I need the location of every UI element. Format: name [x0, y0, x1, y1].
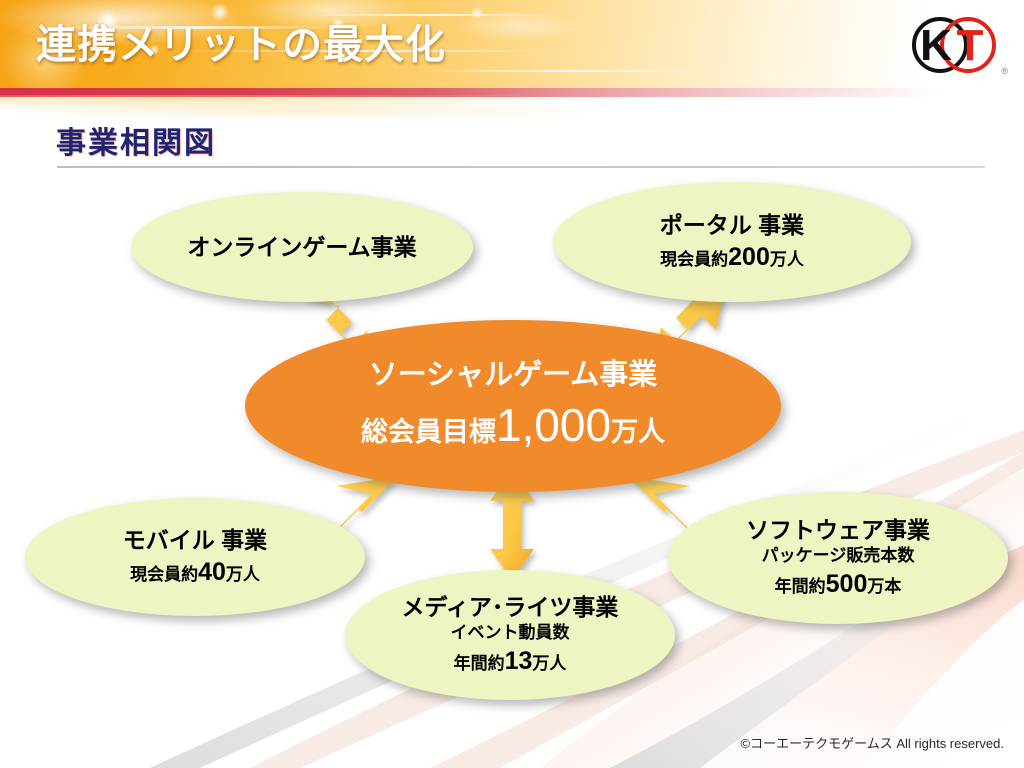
node-media-rights[interactable]: メディア･ライツ事業 イベント動員数 年間約13万人 — [345, 570, 675, 700]
node-metric-prefix: 年間約 — [454, 654, 505, 673]
node-metric-line1: パッケージ販売本数 — [762, 546, 915, 566]
slide-header: 連携メリットの最大化 — [0, 0, 1024, 92]
node-online-game[interactable]: オンラインゲーム事業 — [131, 192, 473, 302]
node-metric-prefix: 現会員約 — [660, 250, 728, 269]
node-metric-number: 40 — [198, 558, 226, 586]
kt-logo: K T — [906, 8, 1002, 82]
node-title: モバイル 事業 — [123, 527, 267, 553]
registered-trademark-icon: ® — [1001, 66, 1008, 76]
node-metric-prefix: イベント動員数 — [451, 623, 570, 642]
node-metric-suffix: 万人 — [226, 565, 260, 584]
node-metric-prefix: 現会員約 — [130, 565, 198, 584]
business-correlation-diagram: オンラインゲーム事業 ポータル 事業 現会員約200万人 ソーシャルゲーム事業 … — [0, 170, 1024, 730]
node-metric-number: 1,000 — [496, 399, 611, 451]
node-title: ソフトウェア事業 — [746, 517, 930, 543]
svg-text:K: K — [920, 21, 952, 70]
node-title: ソーシャルゲーム事業 — [369, 359, 658, 392]
node-metric-prefix: パッケージ販売本数 — [762, 546, 915, 565]
node-metric: 総会員目標1,000万人 — [361, 398, 665, 453]
node-metric-line2: 年間約500万本 — [775, 569, 902, 599]
section-title: 事業相関図 — [56, 118, 216, 162]
svg-text:T: T — [957, 21, 984, 70]
node-metric-number: 200 — [728, 243, 770, 271]
node-metric-suffix: 万人 — [532, 654, 566, 673]
node-metric-prefix: 総会員目標 — [361, 417, 496, 447]
page-title: 連携メリットの最大化 — [36, 12, 446, 70]
node-metric: 現会員約40万人 — [130, 557, 260, 587]
node-title: オンラインゲーム事業 — [187, 234, 416, 260]
node-metric: 現会員約200万人 — [660, 242, 804, 272]
copyright-notice: ©コーエーテクモゲームス All rights reserved. — [741, 733, 1004, 752]
node-metric-line2: 年間約13万人 — [454, 646, 567, 676]
node-metric-suffix: 万人 — [770, 250, 804, 269]
node-metric-suffix: 万本 — [867, 577, 901, 596]
node-title: ポータル 事業 — [660, 212, 804, 238]
node-title: メディア･ライツ事業 — [402, 594, 619, 620]
node-software[interactable]: ソフトウェア事業 パッケージ販売本数 年間約500万本 — [668, 492, 1008, 624]
node-metric-line1: イベント動員数 — [451, 623, 570, 643]
node-metric-prefix: 年間約 — [775, 577, 826, 596]
header-light-streak — [420, 70, 720, 72]
section-divider — [57, 166, 985, 168]
node-social-game[interactable]: ソーシャルゲーム事業 総会員目標1,000万人 — [245, 320, 781, 492]
sparkle-icon — [470, 6, 484, 20]
node-metric-number: 500 — [826, 570, 868, 598]
node-mobile[interactable]: モバイル 事業 現会員約40万人 — [25, 498, 365, 616]
presentation-slide: 連携メリットの最大化 K T ® 事業相関図 — [0, 0, 1024, 768]
node-portal[interactable]: ポータル 事業 現会員約200万人 — [553, 182, 911, 302]
node-metric-number: 13 — [505, 647, 533, 675]
node-metric-suffix: 万人 — [611, 417, 665, 447]
